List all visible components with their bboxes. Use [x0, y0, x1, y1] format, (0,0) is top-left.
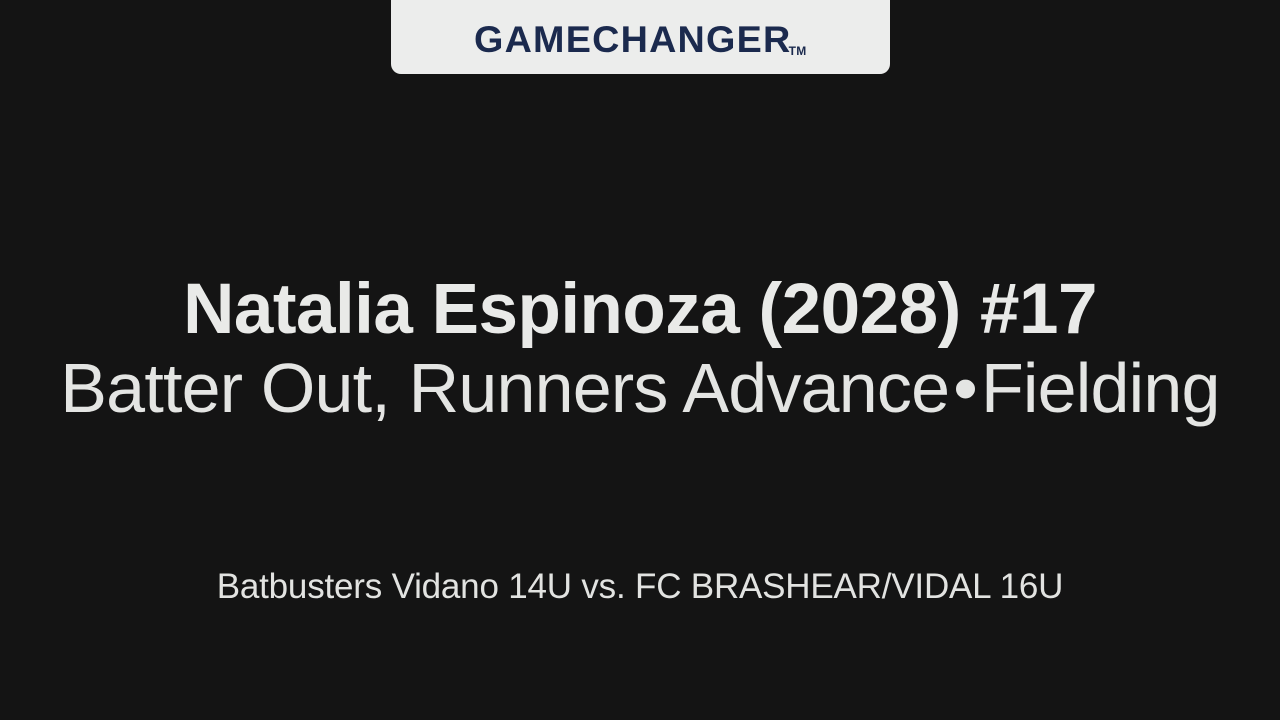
play-separator-dot: •	[949, 349, 981, 427]
matchup-caption: Batbusters Vidano 14U vs. FC BRASHEAR/VI…	[0, 566, 1280, 608]
video-title-card: GAMECHANGER TM Natalia Espinoza (2028) #…	[0, 0, 1280, 720]
gamechanger-wordmark: GAMECHANGER	[474, 21, 791, 58]
play-description: Batter Out, Runners Advance	[60, 349, 949, 427]
gamechanger-logo-lockup: GAMECHANGER TM	[474, 21, 806, 58]
gamechanger-logo-badge: GAMECHANGER TM	[391, 0, 890, 74]
play-category: Fielding	[981, 349, 1220, 427]
play-subtitle: Batter Out, Runners Advance•Fielding	[24, 349, 1256, 427]
play-text-block: Natalia Espinoza (2028) #17 Batter Out, …	[0, 272, 1280, 428]
player-title: Natalia Espinoza (2028) #17	[24, 272, 1256, 347]
